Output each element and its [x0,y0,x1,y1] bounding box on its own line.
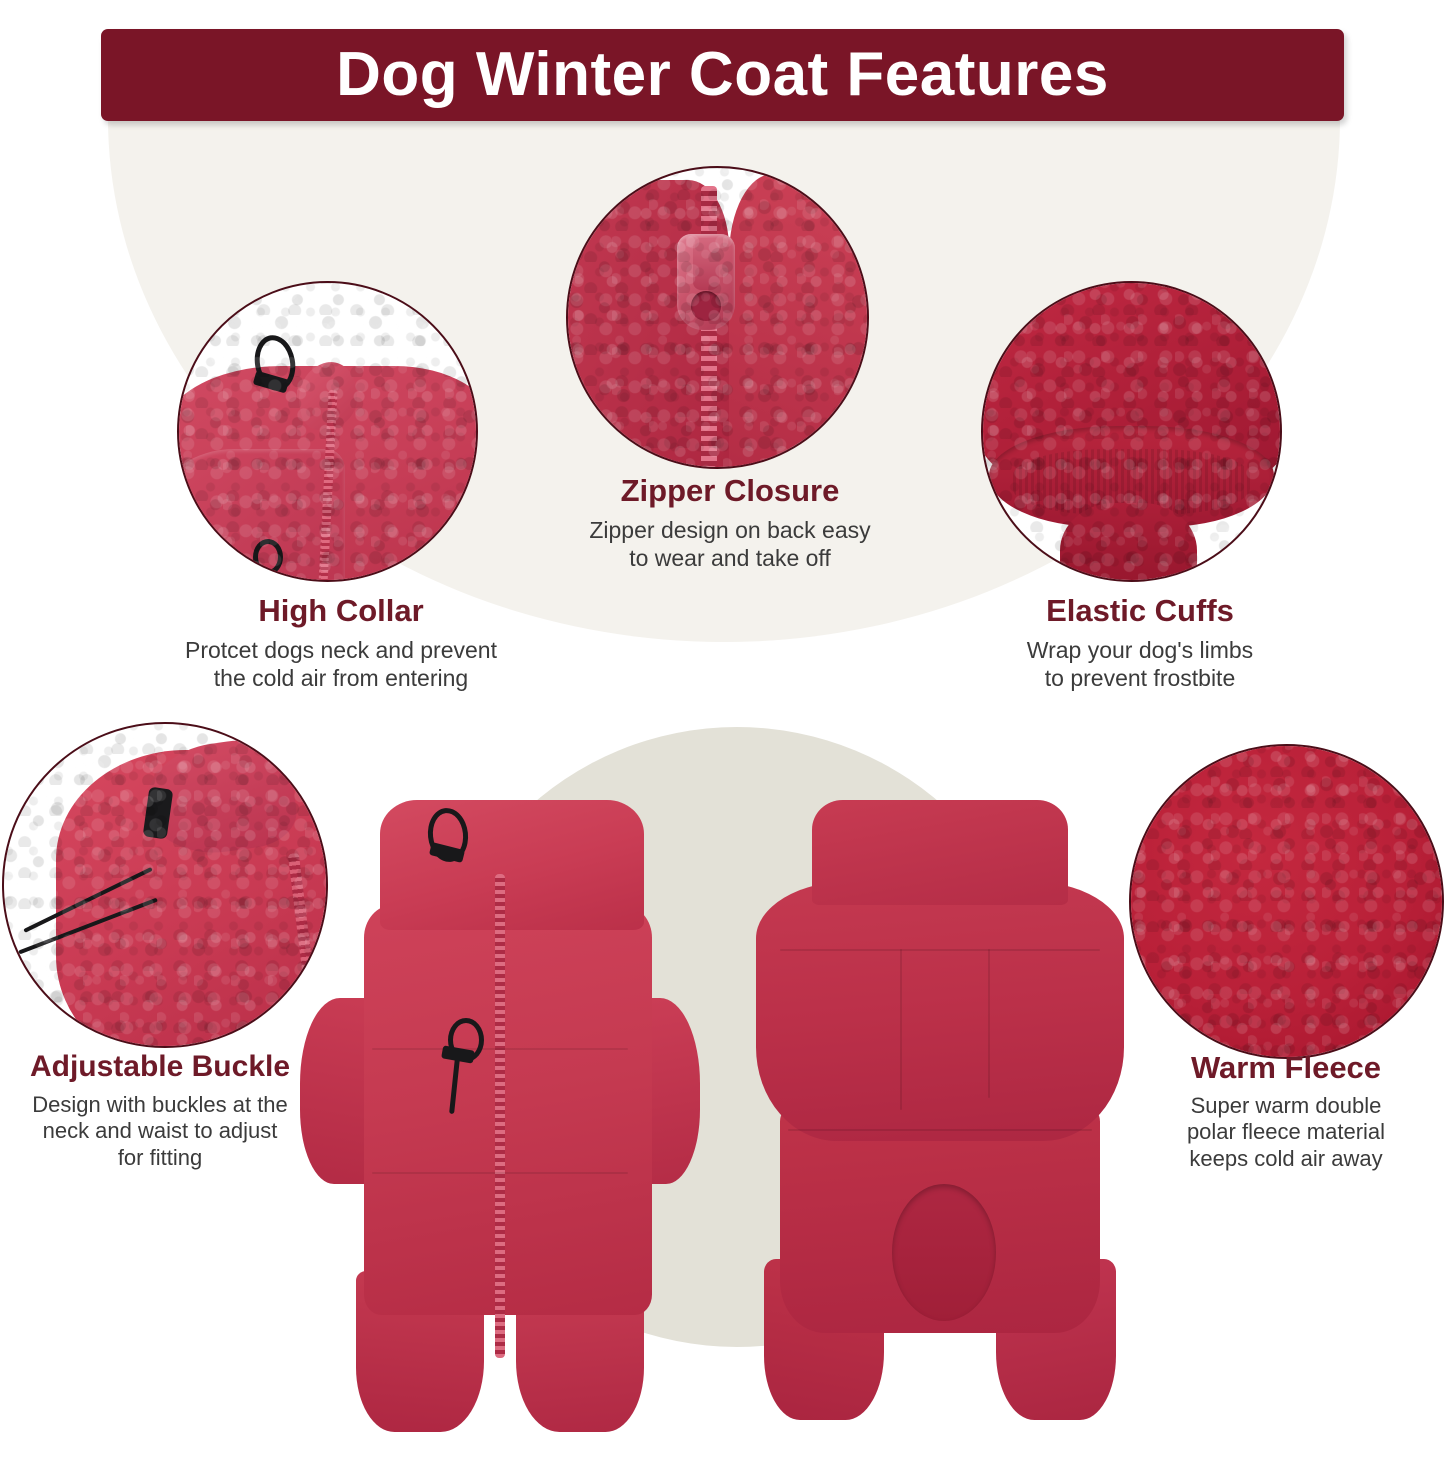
page-title: Dog Winter Coat Features [336,44,1109,106]
title-banner: Dog Winter Coat Features [101,29,1344,121]
feature-title: High Collar [106,593,576,629]
feature-adjustable-buckle: Adjustable Buckle Design with buckles at… [0,1050,320,1172]
cuff-tail-shape [1060,503,1197,582]
fleece-texture [983,283,1280,580]
back-shoulder-seam [780,949,1100,951]
zipper-left-panel [566,180,729,469]
zipper-closure-photo [566,166,869,469]
back-right-panel-seam [988,949,990,1098]
feature-description: Super warm double polar fleece material … [1136,1093,1436,1173]
cord-toggle-icon [253,371,290,394]
dog-coat-back-view [740,800,1140,1420]
cuff-body-shape [981,281,1282,509]
zipper-slider-icon [677,234,735,330]
feature-title: Warm Fleece [1136,1050,1436,1086]
zipper-teeth [701,186,717,467]
cuff-rib-texture [1013,449,1251,514]
high-collar-photo [177,281,478,582]
warm-fleece-texture-photo [1129,744,1444,1059]
front-high-collar [380,800,644,930]
front-center-zipper [495,874,505,1358]
cord-toggle-icon [142,787,173,840]
feature-title: Zipper Closure [505,473,955,509]
feature-description: Wrap your dog's limbs to prevent frostbi… [935,636,1345,692]
collar-knot-shape [292,358,364,434]
feature-elastic-cuffs: Elastic Cuffs Wrap your dog's limbs to p… [935,593,1345,692]
dog-coat-front-view [300,800,700,1420]
zipper-pull-tab [693,238,719,290]
infographic-page: Dog Winter Coat Features [0,0,1445,1468]
cuff-elastic-band [989,426,1274,527]
elastic-cuff-photo [981,281,1282,582]
adjustable-buckle-photo [2,722,328,1048]
fleece-texture [4,724,326,1046]
back-high-collar [812,800,1068,905]
buckle-fabric-shape [56,750,328,1048]
fleece-texture [179,283,476,580]
feature-description: Design with buckles at the neck and wais… [0,1092,320,1172]
feature-title: Elastic Cuffs [935,593,1345,629]
zipper-right-panel [729,174,869,469]
front-torso [364,905,652,1314]
feature-description: Zipper design on back easy to wear and t… [505,516,955,572]
feature-zipper-closure: Zipper Closure Zipper design on back eas… [505,473,955,572]
fleece-texture [1131,746,1442,1057]
zipper-pull-hole [691,291,721,321]
collar-zipper-line [318,390,337,582]
front-waist-seam [372,1172,628,1174]
feature-description: Protcet dogs neck and prevent the cold a… [106,636,576,692]
collar-fold-shape [177,449,345,582]
drawstring-loop-icon [250,332,299,394]
lower-drawstring-loop-icon [253,539,283,575]
feature-title: Adjustable Buckle [0,1050,320,1085]
back-center-seam [900,949,902,1110]
feature-high-collar: High Collar Protcet dogs neck and preven… [106,593,576,692]
fleece-texture [568,168,867,467]
back-belly-opening [892,1184,996,1320]
front-chest-seam [372,1048,628,1050]
back-upper-cape [756,881,1124,1141]
back-waist-seam [788,1129,1092,1131]
feature-warm-fleece: Warm Fleece Super warm double polar flee… [1136,1050,1436,1173]
elastic-cord-upper [23,867,152,933]
buckle-fabric-fold [139,734,301,863]
elastic-cord-lower [18,897,158,954]
collar-body-shape [177,366,478,582]
